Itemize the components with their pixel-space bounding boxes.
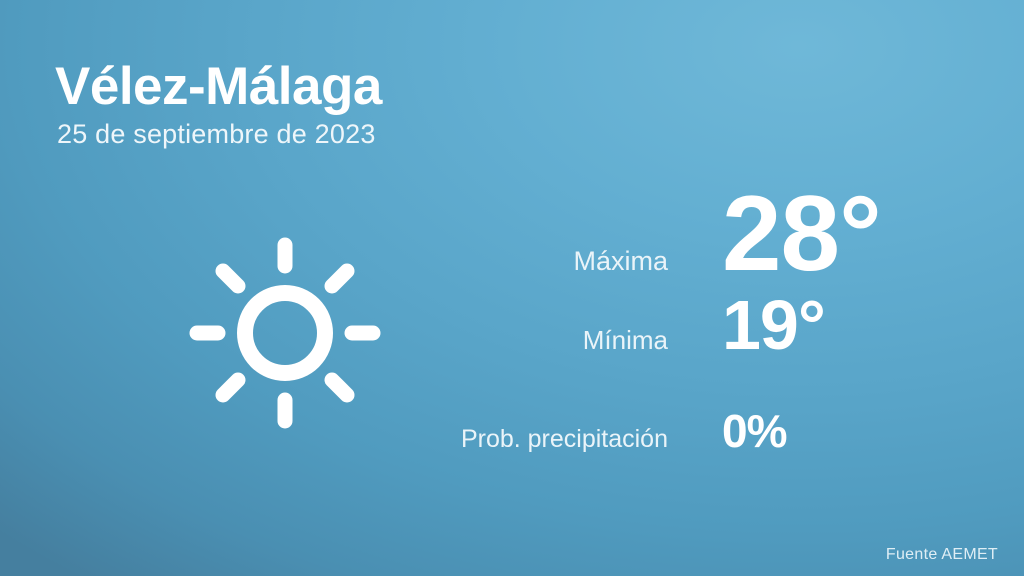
reading-value-maxima: 28°	[668, 180, 960, 287]
reading-row-minima: Mínima 19°	[400, 290, 960, 408]
reading-value-minima: 19°	[668, 290, 960, 360]
source-attribution: Fuente AEMET	[886, 546, 998, 564]
reading-label-precipitacion: Prob. precipitación	[400, 425, 668, 454]
reading-label-minima: Mínima	[400, 325, 668, 356]
page-title: Vélez-Málaga	[55, 58, 382, 115]
weather-card: Vélez-Málaga 25 de septiembre de 2023	[0, 0, 1024, 576]
reading-row-maxima: Máxima 28°	[400, 180, 960, 290]
reading-row-precipitacion: Prob. precipitación 0%	[400, 408, 960, 468]
reading-label-maxima: Máxima	[400, 246, 668, 277]
header: Vélez-Málaga 25 de septiembre de 2023	[55, 58, 382, 150]
forecast-date: 25 de septiembre de 2023	[57, 119, 382, 150]
reading-value-precipitacion: 0%	[668, 408, 960, 454]
readings-list: Máxima 28° Mínima 19° Prob. precipitació…	[400, 180, 960, 468]
sun-icon	[185, 233, 385, 433]
